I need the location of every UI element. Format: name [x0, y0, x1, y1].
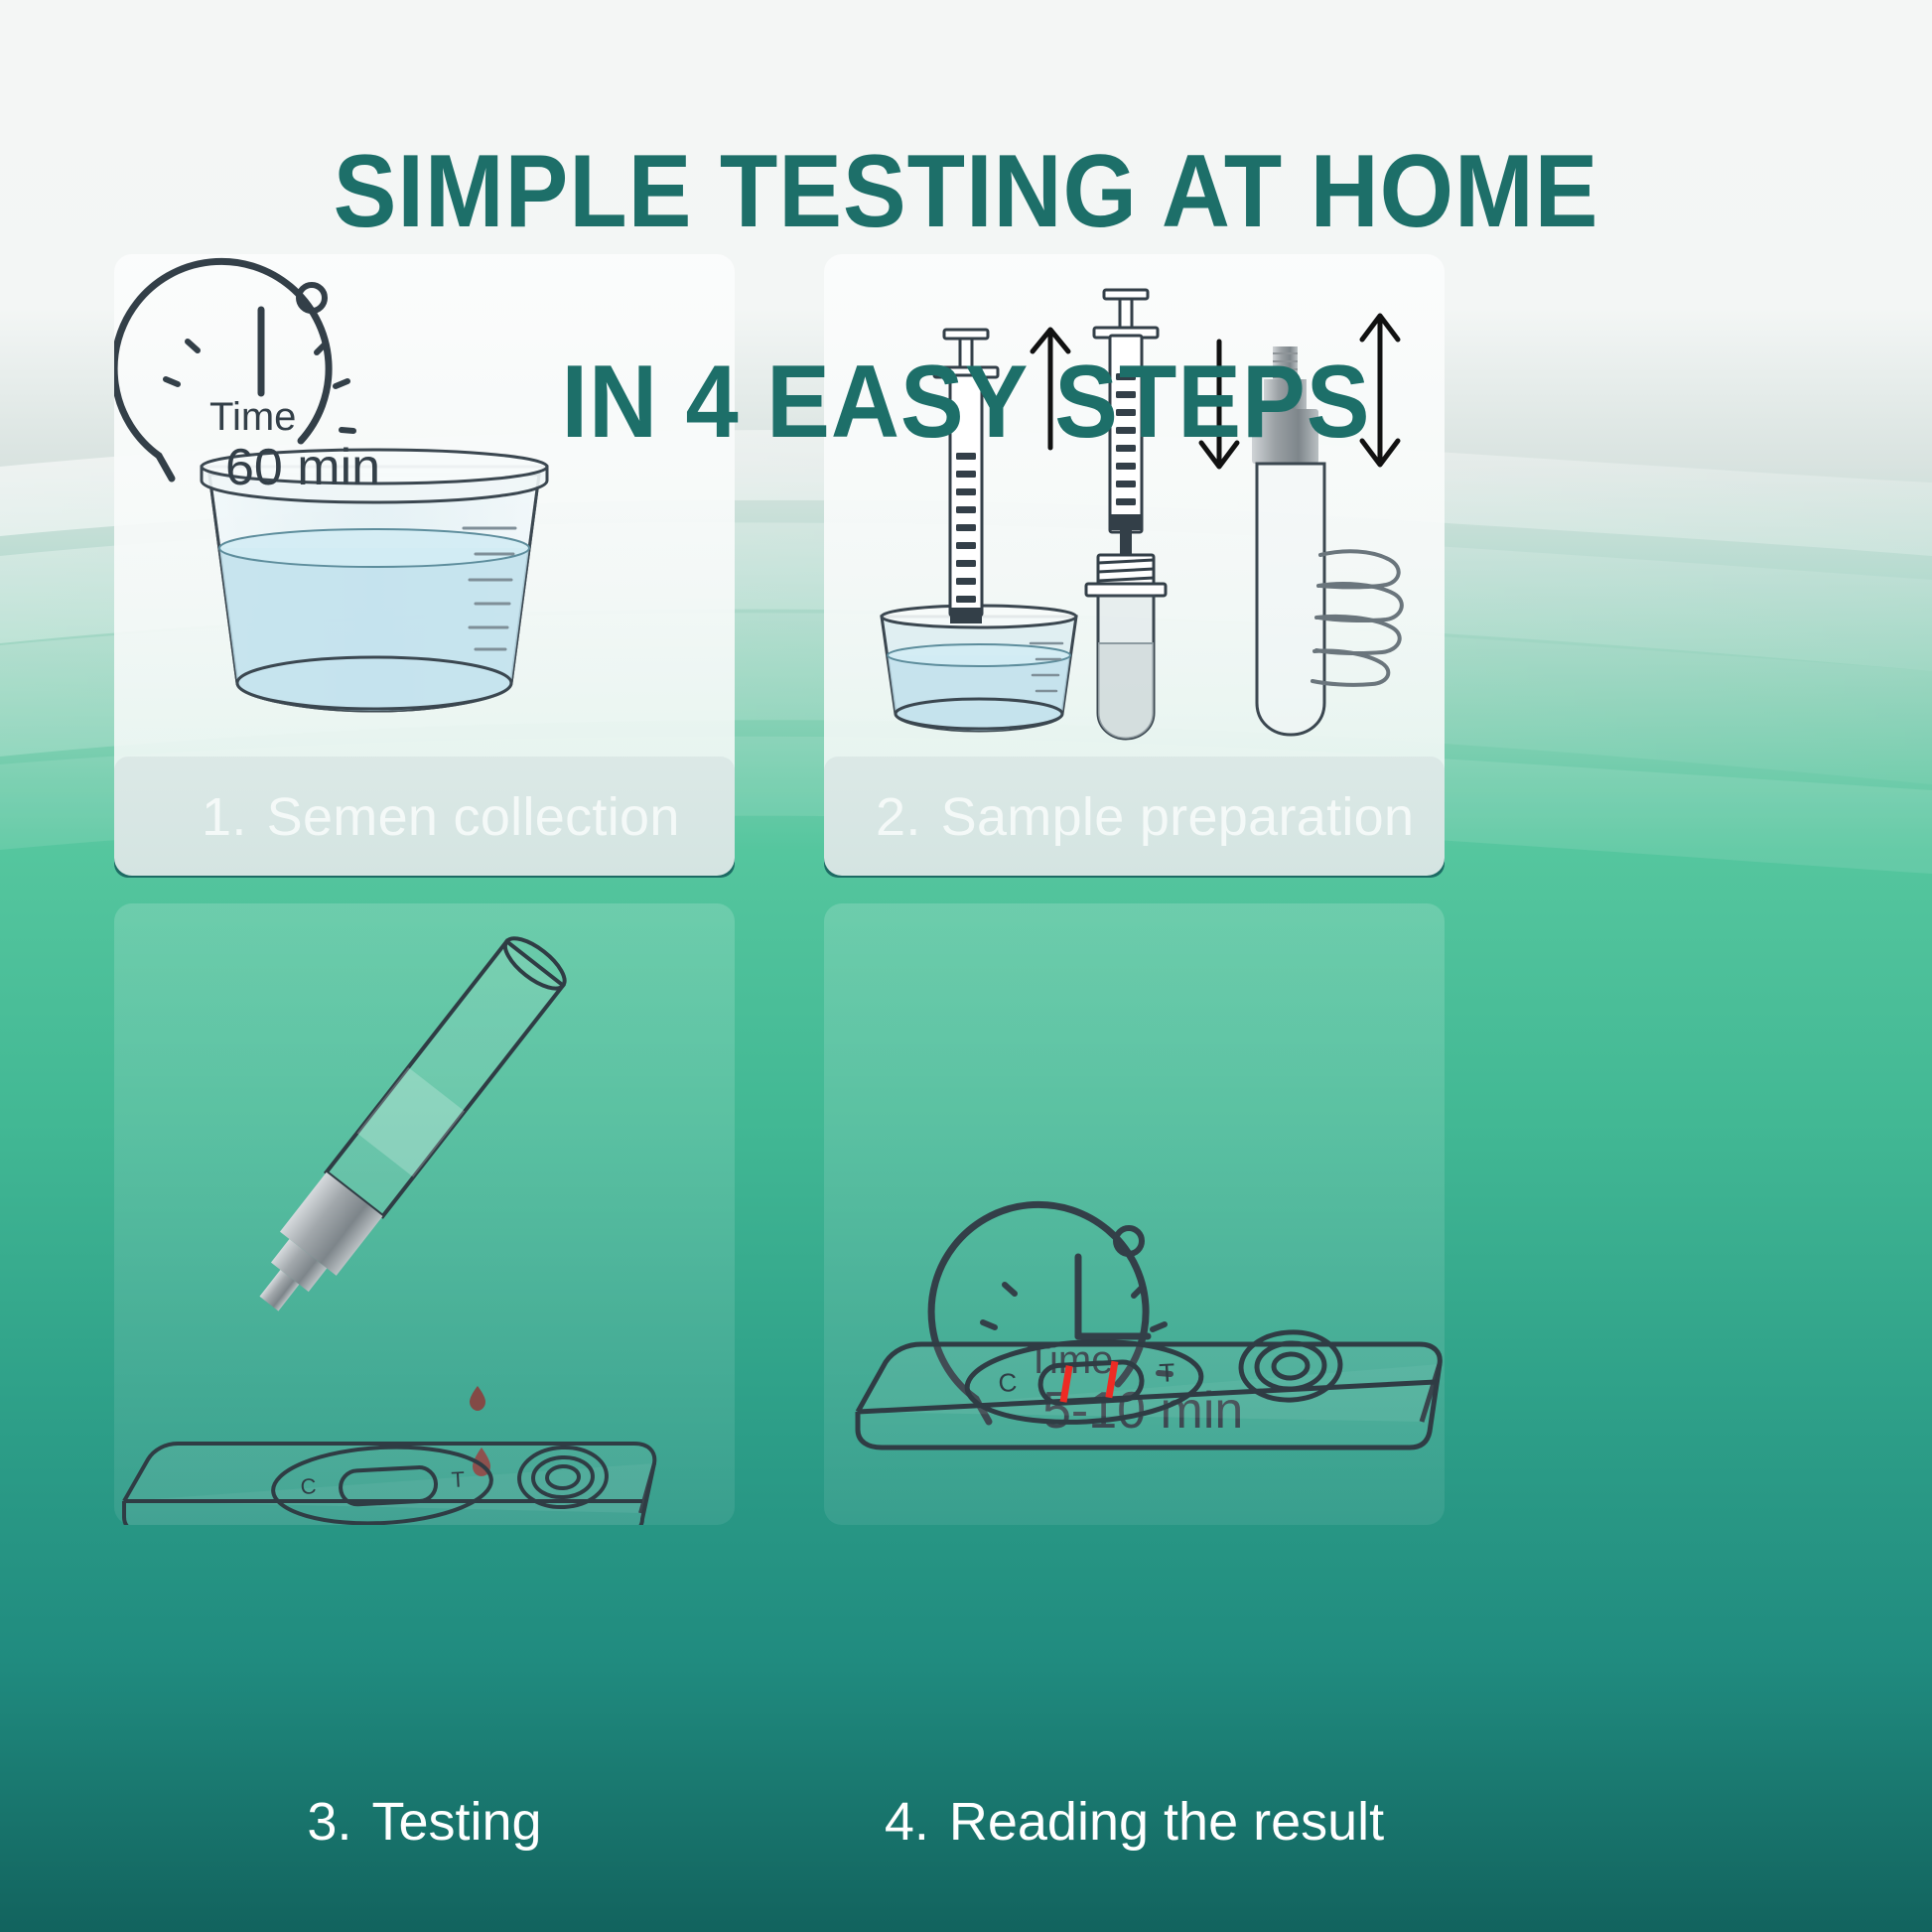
step-4-label-text: Reading the result [949, 1791, 1384, 1853]
cassette-test-mark-3: T [451, 1466, 466, 1492]
test-tube-icon [1098, 596, 1154, 739]
page-title-line-1: SIMPLE TESTING AT HOME [77, 139, 1855, 244]
cassette-control-mark-4: C [998, 1367, 1018, 1398]
step-3-illustration: C T [114, 903, 735, 1525]
step-4-label: 4. Reading the result [824, 1767, 1445, 1876]
cassette-control-mark-3: C [300, 1473, 317, 1499]
page-title: SIMPLE TESTING AT HOME IN 4 EASY STEPS [77, 34, 1855, 560]
step-card-3: C T [114, 903, 735, 1525]
step-3-index: 3. [307, 1791, 351, 1853]
infographic-root: SIMPLE TESTING AT HOME IN 4 EASY STEPS [0, 0, 1932, 1932]
step-4-illustration: Time 5-10 min C T [824, 903, 1445, 1525]
step-3-label-text: Testing [371, 1791, 541, 1853]
page-title-line-2: IN 4 EASY STEPS [77, 349, 1855, 455]
thread-connector-icon [1086, 555, 1166, 596]
test-cassette-icon: C T [858, 1329, 1440, 1448]
test-cassette-icon: C T [124, 1442, 654, 1525]
step-4-index: 4. [885, 1791, 929, 1853]
step-card-4: Time 5-10 min C T [824, 903, 1445, 1525]
cassette-test-mark-4: T [1159, 1357, 1176, 1388]
step-3-label: 3. Testing [114, 1767, 735, 1876]
